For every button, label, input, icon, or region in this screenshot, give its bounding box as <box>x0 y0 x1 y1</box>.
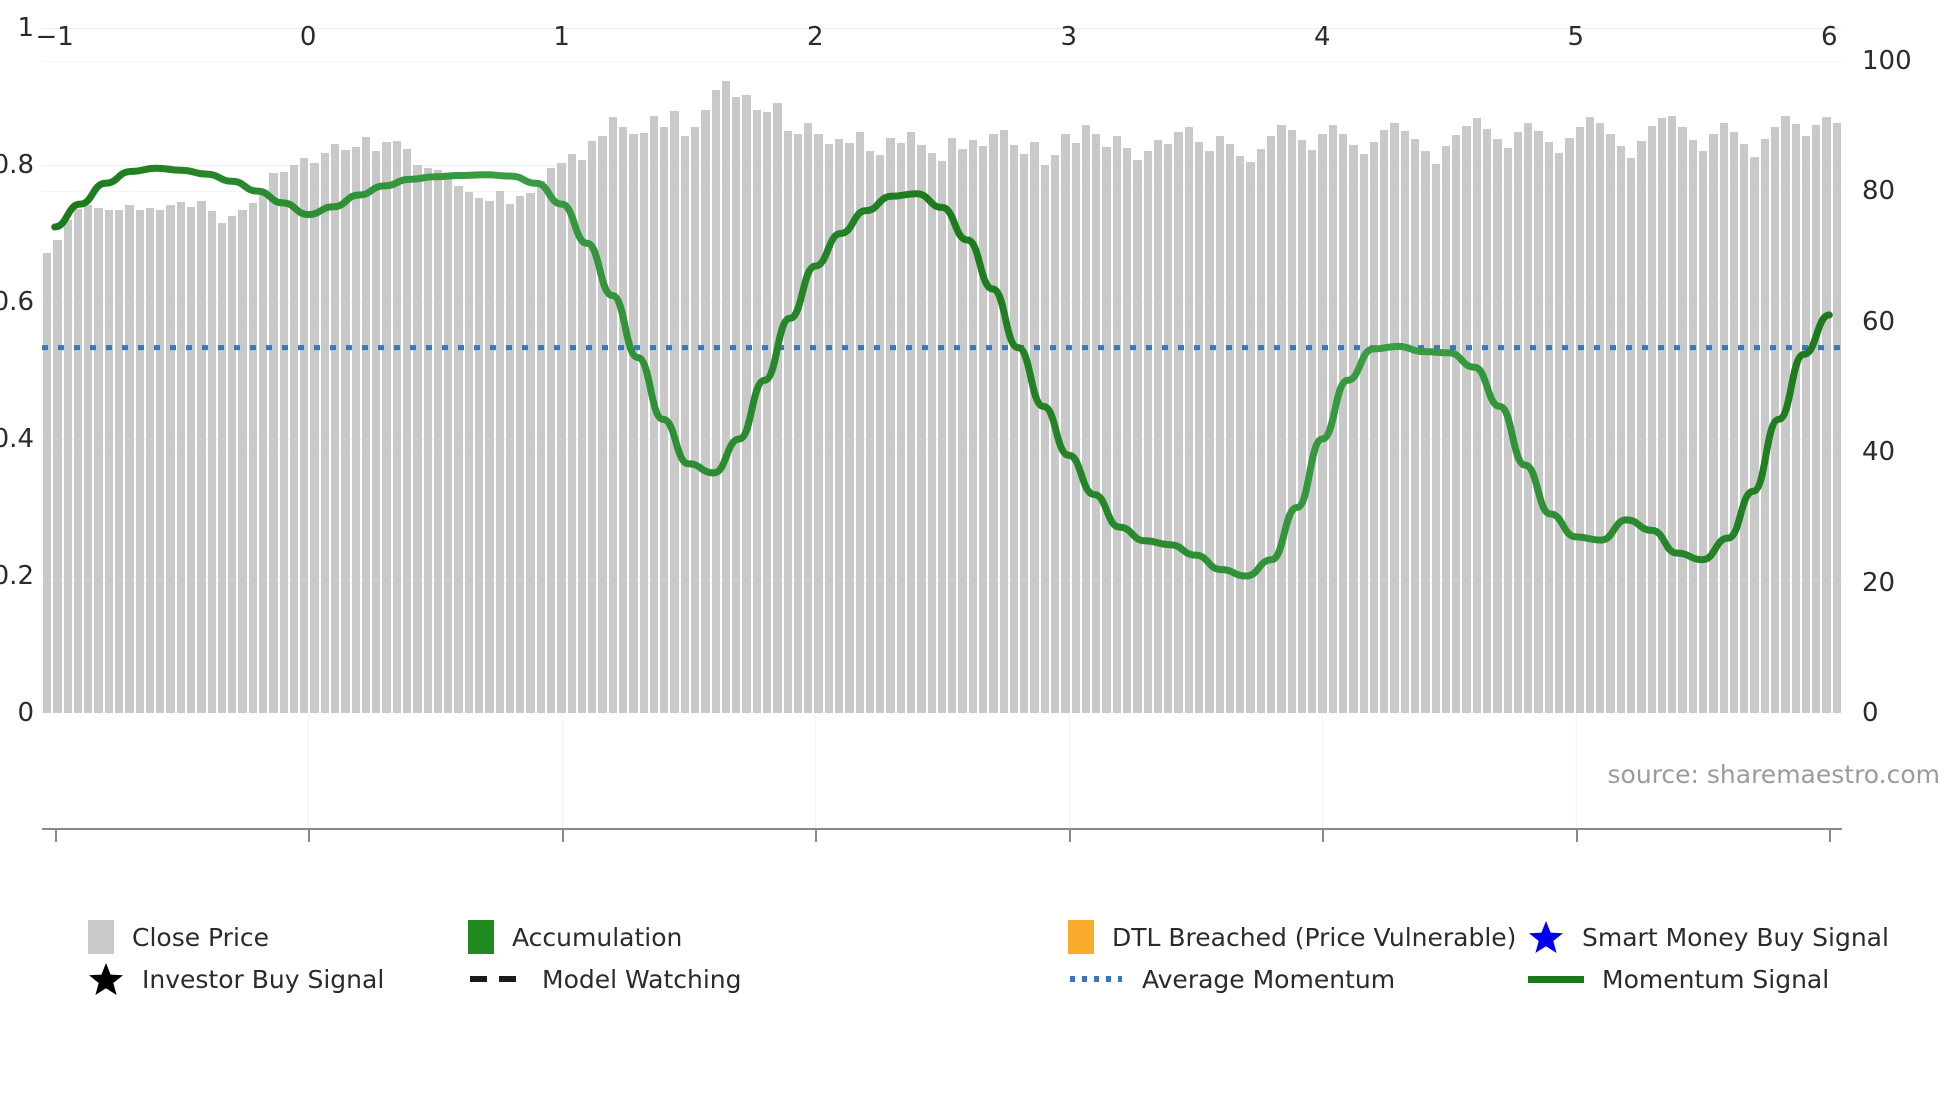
legend-momentum-signal[interactable]: Momentum Signal <box>1528 962 1829 996</box>
y-axis-left-tick-label: 0.8 <box>0 150 34 180</box>
x-guide <box>1322 713 1323 828</box>
x-axis-tick <box>562 828 564 842</box>
x-axis-tick-label: 2 <box>807 22 824 52</box>
legend-swatch-dotted <box>1068 974 1124 984</box>
legend-accumulation[interactable]: Accumulation <box>468 920 682 954</box>
x-guide <box>562 713 563 828</box>
legend-investor-buy-signal[interactable]: Investor Buy Signal <box>88 962 384 996</box>
legend-label: Close Price <box>132 923 269 952</box>
x-axis <box>42 828 1842 830</box>
legend-swatch-line <box>1528 976 1584 983</box>
source-note: source: sharemaestro.com <box>1608 760 1941 789</box>
x-guide <box>815 713 816 828</box>
y-axis-right-tick-label: 40 <box>1862 437 1895 467</box>
x-axis-tick-label: 5 <box>1568 22 1585 52</box>
x-axis-tick <box>815 828 817 842</box>
x-axis-tick <box>1829 828 1831 842</box>
y-axis-right-tick-label: 80 <box>1862 176 1895 206</box>
x-guide <box>1069 713 1070 828</box>
legend-swatch-square <box>1068 920 1094 954</box>
x-axis-tick-label: 0 <box>300 22 317 52</box>
chart-root: 00.20.40.60.81 020406080100 <box>0 0 1960 1102</box>
y-axis-left-tick-label: 0.2 <box>0 561 34 591</box>
x-axis-tick-label: 4 <box>1314 22 1331 52</box>
legend-swatch-dashed <box>468 972 524 986</box>
legend-label: Investor Buy Signal <box>142 965 384 994</box>
x-axis-tick <box>1576 828 1578 842</box>
legend-label: Model Watching <box>542 965 742 994</box>
x-axis-tick <box>1322 828 1324 842</box>
y-axis-right-tick-label: 100 <box>1862 46 1912 76</box>
legend-swatch-square <box>88 920 114 954</box>
line-overlay <box>42 28 1842 713</box>
y-axis-left-tick-label: 0.4 <box>0 424 34 454</box>
legend-label: Smart Money Buy Signal <box>1582 923 1889 952</box>
momentum-signal-line <box>55 168 1830 576</box>
y-axis-right-tick-label: 20 <box>1862 568 1895 598</box>
y-axis-right-tick-label: 60 <box>1862 307 1895 337</box>
x-axis-tick-label: 3 <box>1060 22 1077 52</box>
star-icon <box>88 962 124 996</box>
legend-model-watching[interactable]: Model Watching <box>468 962 742 996</box>
plot-clip <box>42 28 1842 713</box>
chart-legend: Close Price Accumulation DTL Breached (P… <box>0 920 1960 1030</box>
x-guide <box>308 713 309 828</box>
x-axis-tick <box>1069 828 1071 842</box>
legend-dtl-breached[interactable]: DTL Breached (Price Vulnerable) <box>1068 920 1516 954</box>
plot-area <box>42 28 1842 713</box>
legend-close-price[interactable]: Close Price <box>88 920 269 954</box>
legend-label: Average Momentum <box>1142 965 1395 994</box>
x-axis-tick-label: 1 <box>553 22 570 52</box>
legend-swatch-square <box>468 920 494 954</box>
x-axis-tick <box>55 828 57 842</box>
y-axis-left-tick-label: 1 <box>17 13 34 43</box>
legend-label: DTL Breached (Price Vulnerable) <box>1112 923 1516 952</box>
x-axis-tick <box>308 828 310 842</box>
legend-average-momentum[interactable]: Average Momentum <box>1068 962 1395 996</box>
legend-smart-money-buy-signal[interactable]: Smart Money Buy Signal <box>1528 920 1889 954</box>
legend-label: Momentum Signal <box>1602 965 1829 994</box>
legend-label: Accumulation <box>512 923 682 952</box>
x-axis-tick-label: 6 <box>1821 22 1838 52</box>
star-icon <box>1528 920 1564 954</box>
x-axis-tick-label: −1 <box>36 22 74 52</box>
y-axis-right-tick-label: 0 <box>1862 698 1879 728</box>
x-guide <box>1576 713 1577 828</box>
y-axis-left-tick-label: 0.6 <box>0 287 34 317</box>
y-axis-left-tick-label: 0 <box>17 698 34 728</box>
